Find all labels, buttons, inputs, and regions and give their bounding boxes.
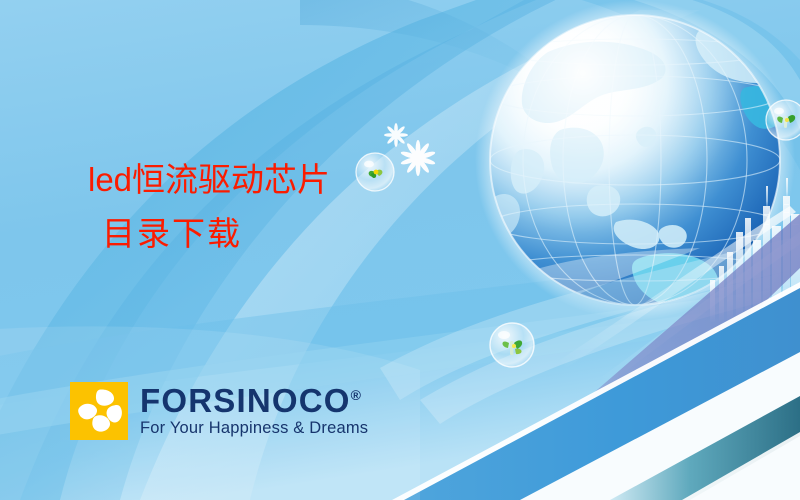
brand-tagline: For Your Happiness & Dreams [140, 420, 368, 437]
flower-asterisk-small [384, 123, 408, 147]
brand-name: FORSINOCO® [140, 384, 368, 417]
forsinoco-pinwheel-mark [70, 382, 128, 440]
promo-banner: led恒流驱动芯片 目录下载 FORSINOCO® For Your Happi… [0, 0, 800, 500]
brand-logo[interactable]: FORSINOCO® For Your Happiness & Dreams [70, 382, 368, 440]
bubble-leaf-center [490, 323, 534, 367]
headline-line-1: led恒流驱动芯片 [88, 163, 428, 198]
registered-trademark-icon: ® [351, 387, 361, 403]
headline-line-2: 目录下载 [102, 218, 428, 253]
pinwheel-petals-icon [70, 382, 128, 440]
headline-text: led恒流驱动芯片 目录下载 [88, 163, 428, 252]
bubble-right-edge [766, 100, 800, 140]
brand-lockup-text: FORSINOCO® For Your Happiness & Dreams [140, 382, 368, 437]
brand-wordmark: FORSINOCO [140, 382, 351, 419]
